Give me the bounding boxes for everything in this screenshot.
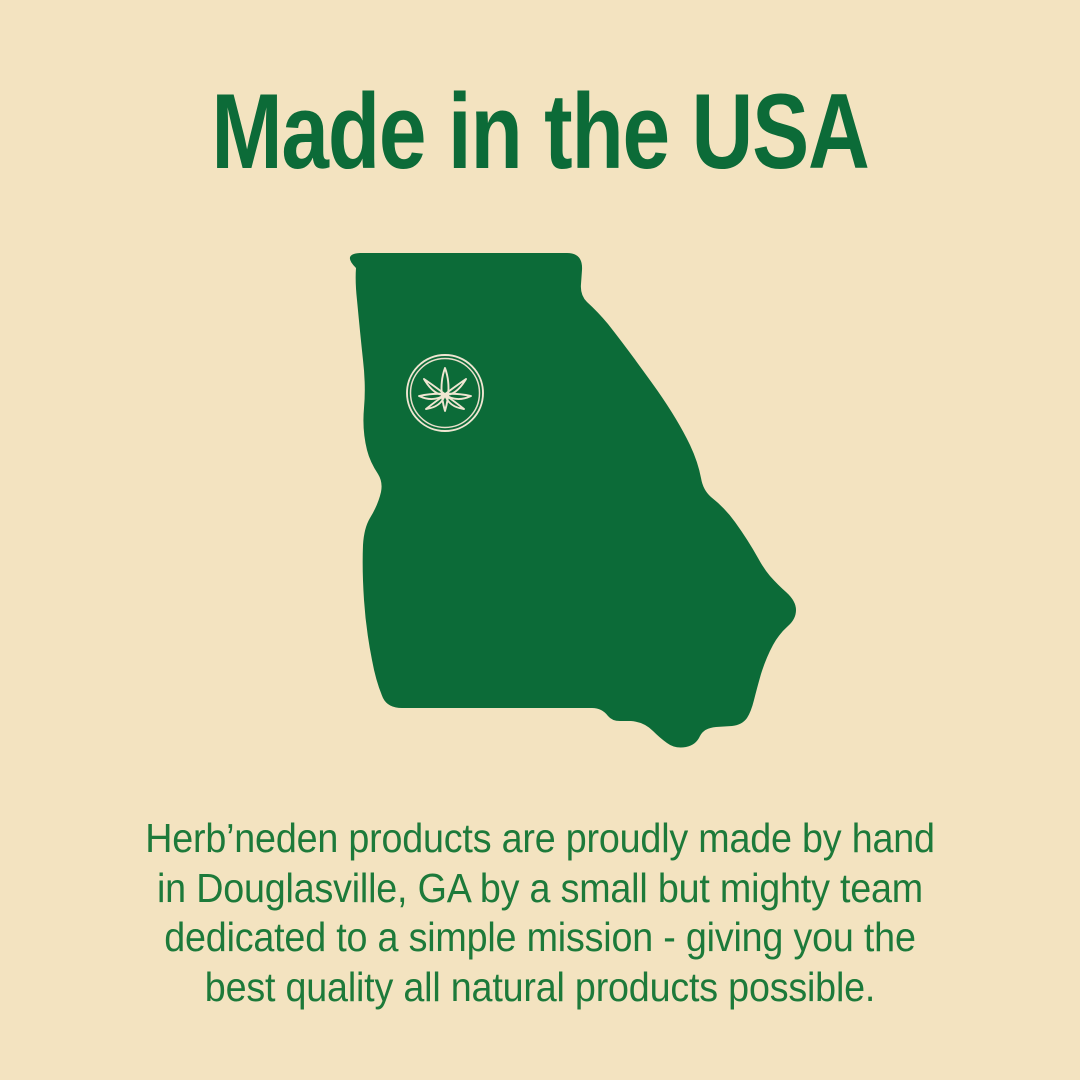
page-title: Made in the USA <box>108 78 972 185</box>
body-line-1: Herb’neden products are proudly made by … <box>122 814 959 864</box>
body-paragraph: Herb’neden products are proudly made by … <box>122 814 959 1012</box>
georgia-state-shape <box>350 253 796 748</box>
body-line-4: best quality all natural products possib… <box>122 963 959 1013</box>
body-line-3: dedicated to a simple mission - giving y… <box>122 913 959 963</box>
georgia-state-map <box>330 240 820 760</box>
made-in-usa-card: Made in the USA <box>0 0 1080 1080</box>
georgia-map-svg <box>330 240 820 760</box>
body-line-2: in Douglasville, GA by a small but might… <box>122 864 959 914</box>
